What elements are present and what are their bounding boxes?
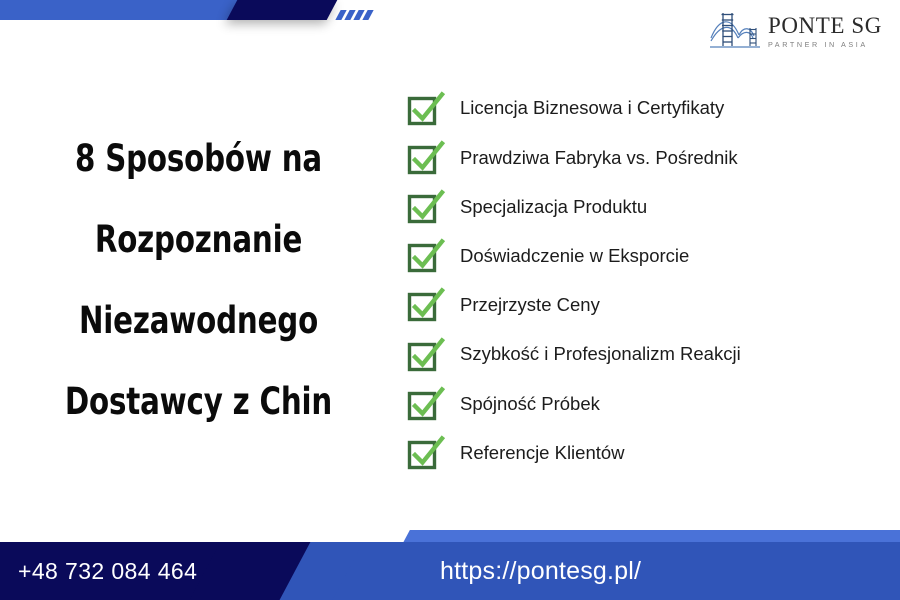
dash-mark — [344, 10, 355, 20]
brand-logo[interactable]: PONTE SG PARTNER IN ASIA — [709, 8, 882, 52]
bridge-icon — [709, 8, 761, 52]
list-item: Spójność Próbek — [406, 379, 876, 428]
list-item-label: Doświadczenie w Eksporcie — [460, 246, 689, 266]
top-blue-bar — [0, 0, 225, 20]
top-blue-parallelogram — [178, 0, 254, 20]
list-item-label: Specjalizacja Produktu — [460, 197, 647, 217]
top-navy-parallelogram — [227, 0, 338, 20]
list-item: Szybkość i Profesjonalizm Reakcji — [406, 330, 876, 379]
logo-tagline: PARTNER IN ASIA — [768, 41, 882, 48]
checkbox-checked-icon — [406, 189, 446, 225]
page-title: 8 Sposobów na Rozpoznanie Niezawodnego D… — [36, 118, 361, 442]
logo-wordmark: PONTE SG PARTNER IN ASIA — [768, 12, 882, 48]
list-item: Specjalizacja Produktu — [406, 182, 876, 231]
list-item: Referencje Klientów — [406, 428, 876, 477]
checkbox-checked-icon — [406, 140, 446, 176]
list-item: Prawdziwa Fabryka vs. Pośrednik — [406, 133, 876, 182]
list-item: Licencja Biznesowa i Certyfikaty — [406, 84, 876, 133]
website-url[interactable]: https://pontesg.pl/ — [440, 557, 641, 586]
checklist: Licencja Biznesowa i Certyfikaty Prawdzi… — [406, 84, 876, 478]
list-item-label: Licencja Biznesowa i Certyfikaty — [460, 98, 724, 118]
headline-line-1: 8 Sposobów na — [56, 118, 342, 199]
list-item-label: Referencje Klientów — [460, 443, 625, 463]
headline-line-3: Niezawodnego — [56, 280, 342, 361]
dash-mark — [335, 10, 346, 20]
top-light-blue-stripe — [0, 11, 267, 20]
dash-mark — [362, 10, 373, 20]
dash-mark — [353, 10, 364, 20]
checkbox-checked-icon — [406, 91, 446, 127]
footer-bar: +48 732 084 464 https://pontesg.pl/ — [0, 530, 900, 600]
headline-line-2: Rozpoznanie — [56, 199, 342, 280]
checkbox-checked-icon — [406, 435, 446, 471]
checkbox-checked-icon — [406, 386, 446, 422]
contact-phone[interactable]: +48 732 084 464 — [18, 558, 197, 585]
list-item-label: Prawdziwa Fabryka vs. Pośrednik — [460, 148, 738, 168]
checkbox-checked-icon — [406, 238, 446, 274]
list-item: Przejrzyste Ceny — [406, 281, 876, 330]
top-dash-group — [338, 10, 382, 20]
checkbox-checked-icon — [406, 287, 446, 323]
list-item-label: Szybkość i Profesjonalizm Reakcji — [460, 344, 741, 364]
headline-line-4: Dostawcy z Chin — [56, 361, 342, 442]
list-item-label: Przejrzyste Ceny — [460, 295, 600, 315]
poster-canvas: PONTE SG PARTNER IN ASIA 8 Sposobów na R… — [0, 0, 900, 600]
logo-name: PONTE SG — [768, 14, 882, 37]
list-item-label: Spójność Próbek — [460, 394, 600, 414]
list-item: Doświadczenie w Eksporcie — [406, 232, 876, 281]
checkbox-checked-icon — [406, 337, 446, 373]
